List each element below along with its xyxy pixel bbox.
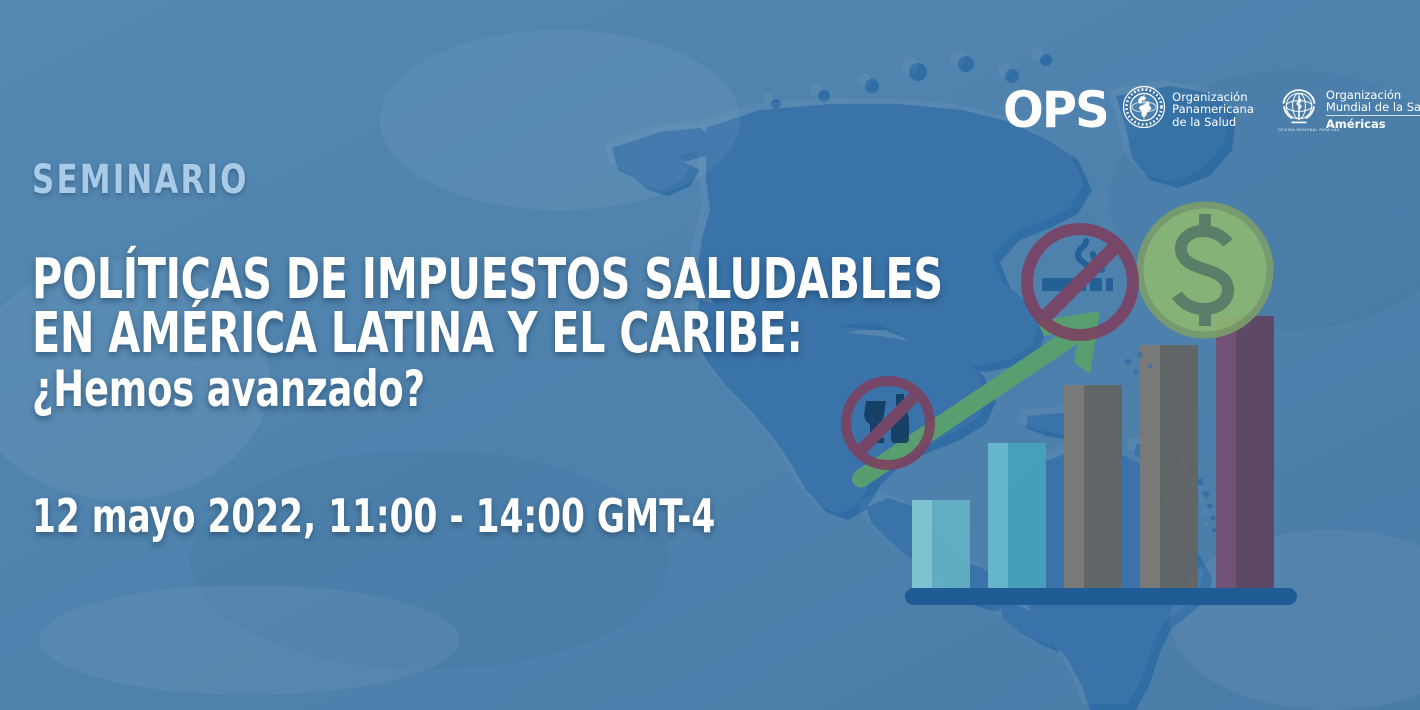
paho-line-2: Panamericana [1172,103,1254,115]
title-line-1: POLÍTICAS DE IMPUESTOS SALUDABLES [32,253,704,307]
paho-line-3: de la Salud [1172,116,1254,128]
chart-baseline [905,588,1297,605]
kicker-label: SEMINARIO [32,160,737,200]
logo-lockup: OPS Org [1003,85,1420,134]
seminar-banner: SEMINARIO POLÍTICAS DE IMPUESTOS SALUDAB… [0,0,1420,710]
ops-wordmark: OPS [1003,88,1108,132]
tax-policy-illustration [830,190,1350,620]
who-divider [1326,115,1420,116]
who-logo-text: Organización Mundial de la Salud América… [1326,89,1420,130]
bar-chart-icon [912,316,1274,590]
who-strapline: OFICINA REGIONAL PARA LAS [1278,128,1339,132]
who-line-3: Américas [1326,118,1420,130]
who-logo: Organización Mundial de la Salud América… [1278,86,1420,133]
paho-globe-emblem-icon [1122,85,1166,134]
banner-text-block: SEMINARIO POLÍTICAS DE IMPUESTOS SALUDAB… [32,160,852,539]
subtitle: ¿Hemos avanzado? [32,361,704,417]
title-line-2: EN AMÉRICA LATINA Y EL CARIBE: [32,307,704,361]
paho-logo-text: Organización Panamericana de la Salud [1172,91,1254,128]
event-datetime: 12 mayo 2022, 11:00 - 14:00 GMT-4 [32,493,713,539]
paho-logo: Organización Panamericana de la Salud [1122,85,1254,134]
page-title: POLÍTICAS DE IMPUESTOS SALUDABLES EN AMÉ… [32,253,852,417]
who-line-2: Mundial de la Salud [1326,101,1420,113]
who-globe-snake-emblem-icon [1278,86,1320,133]
dollar-coin-icon [1140,205,1270,335]
